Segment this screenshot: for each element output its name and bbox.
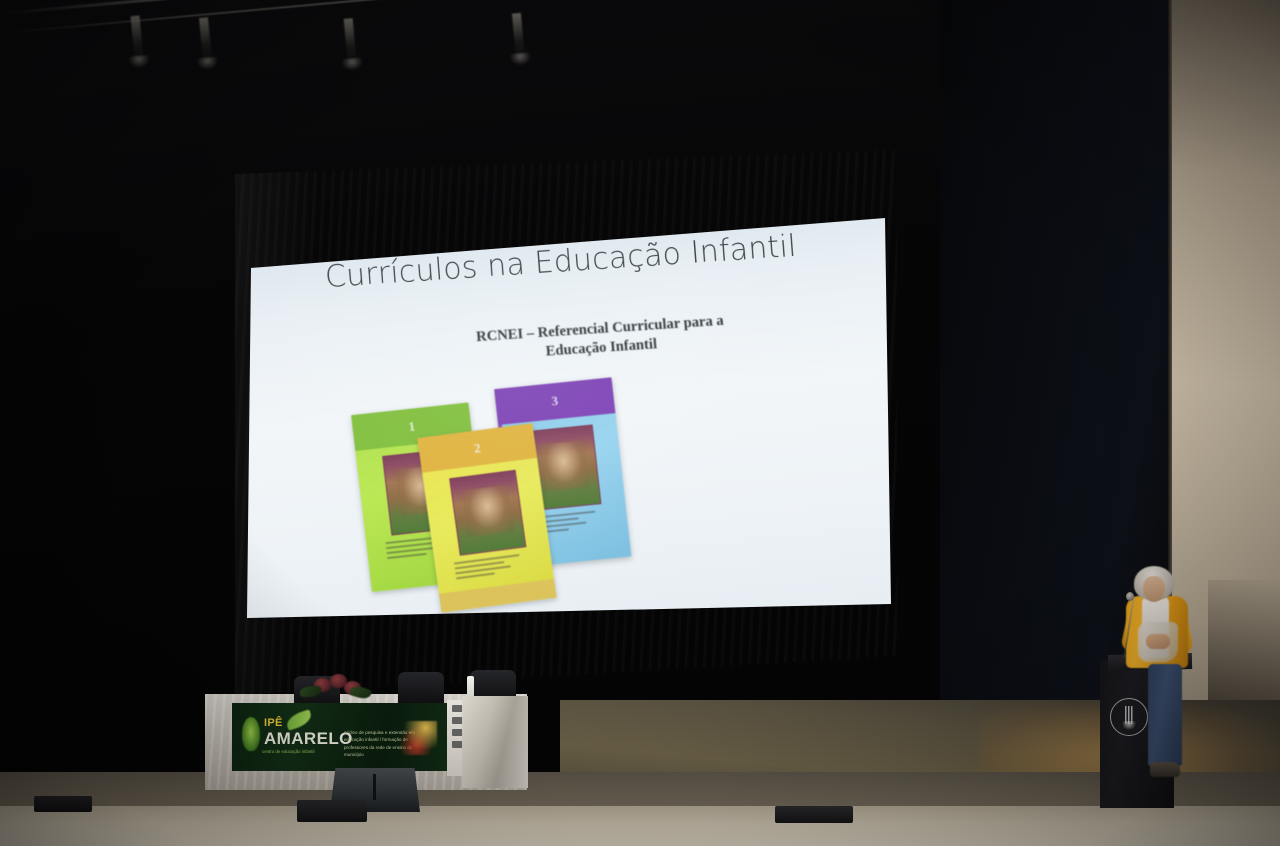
rcnei-volume-2-cover: 2 — [417, 423, 556, 612]
presenter-trousers — [1148, 664, 1182, 766]
banner-brand-line-2: AMARELO — [264, 729, 353, 749]
volume-number: 2 — [473, 440, 482, 457]
foliage — [300, 686, 321, 697]
event-banner: IPÊ AMARELO centro de educação infantil … — [232, 703, 447, 771]
truss-bar — [3, 0, 760, 34]
foliage — [349, 684, 372, 701]
banner-brand-line-1: IPÊ — [264, 717, 283, 729]
stage-lamp-icon — [512, 13, 525, 60]
floral-arrangement — [296, 672, 386, 702]
presenter-hands — [1146, 634, 1170, 649]
rcnei-book-covers: 1 3 — [243, 356, 891, 618]
banner-leaf-icon — [284, 709, 313, 730]
volume-number: 3 — [551, 393, 559, 410]
stage-lamp-icon — [131, 15, 144, 62]
stage-lamp-icon — [344, 18, 357, 65]
microphone-icon — [1126, 592, 1134, 601]
floor-equipment-case — [34, 796, 92, 812]
banner-logo-icon — [242, 717, 260, 751]
cover-body — [422, 458, 556, 612]
volume-number: 1 — [408, 418, 416, 435]
banner-swoosh-icon — [399, 721, 437, 755]
projected-slide: Currículos na Educação Infantil RCNEI – … — [243, 216, 891, 618]
stage-scene: Currículos na Educação Infantil RCNEI – … — [0, 0, 1280, 846]
floor-equipment-case — [775, 806, 853, 823]
water-bottle — [467, 676, 474, 698]
slide-subtitle: RCNEI – Referencial Curricular para a Ed… — [450, 310, 752, 367]
presenter-shoe — [1150, 762, 1180, 777]
truss-bar — [2, 0, 759, 15]
presenter-face — [1143, 576, 1165, 602]
slide-canvas: Currículos na Educação Infantil RCNEI – … — [243, 216, 891, 618]
cover-text-lines — [453, 552, 538, 593]
stage-lamp-icon — [199, 17, 212, 64]
tablecloth-drape — [462, 696, 528, 788]
floor-equipment-case — [297, 800, 367, 822]
cover-illustration — [449, 469, 527, 556]
stage-floor-front-edge — [0, 806, 1280, 846]
